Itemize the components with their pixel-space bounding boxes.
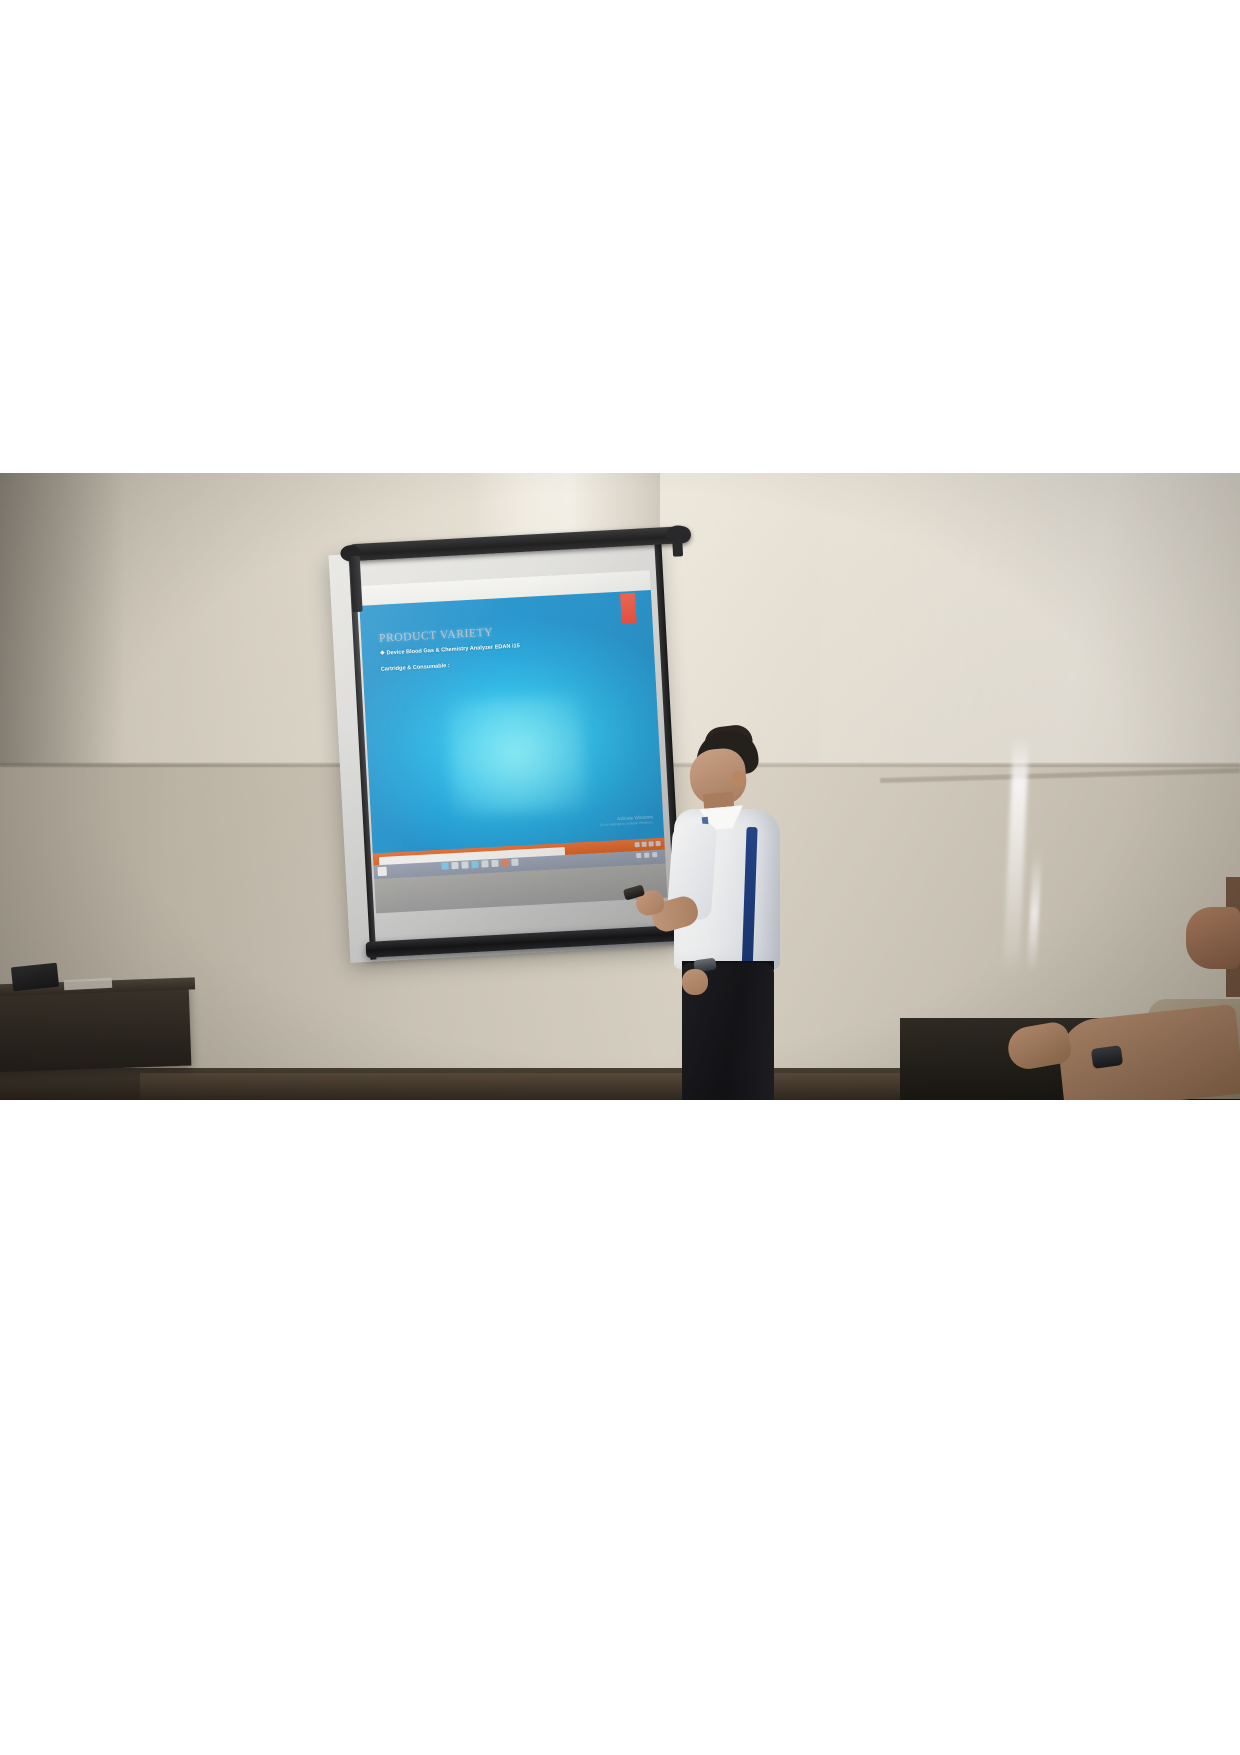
- status-icon-normal-view[interactable]: [635, 842, 640, 847]
- slide-bullet-text: Device Blood Gas & Chemistry Analyzer ED…: [386, 643, 520, 656]
- projected-display: PRODUCT VARIETY ❖ Device Blood Gas & Che…: [358, 570, 667, 913]
- taskbar-icon-folder[interactable]: [511, 859, 518, 866]
- taskbar-icon-store[interactable]: [461, 861, 468, 868]
- tray-icon-battery[interactable]: [652, 852, 657, 857]
- slide-bullet-line-1: ❖ Device Blood Gas & Chemistry Analyzer …: [380, 643, 520, 657]
- presenter-lower-hand: [682, 969, 708, 995]
- slide-light-glow: [446, 694, 586, 816]
- slide-title: PRODUCT VARIETY: [379, 627, 494, 645]
- status-icon-reading-view[interactable]: [648, 841, 653, 846]
- taskbar-icon-excel[interactable]: [491, 860, 498, 867]
- start-button-icon[interactable]: [377, 867, 386, 876]
- audience-person-head: [1186, 907, 1240, 969]
- powerpoint-slide: PRODUCT VARIETY ❖ Device Blood Gas & Che…: [359, 590, 664, 855]
- presenter-person: [660, 731, 800, 1100]
- status-icon-sorter-view[interactable]: [642, 842, 647, 847]
- tray-icon-volume[interactable]: [644, 853, 649, 858]
- tray-icon-network[interactable]: [636, 853, 641, 858]
- slide-accent-rectangle: [620, 593, 637, 624]
- taskbar-icon-edge[interactable]: [441, 862, 448, 869]
- bullet-marker-icon: ❖: [380, 651, 385, 657]
- taskbar-icon-explorer[interactable]: [451, 862, 458, 869]
- audience-wristwatch: [1091, 1045, 1123, 1069]
- screen-bracket-right: [672, 536, 683, 557]
- activate-windows-watermark: Activate Windows Go to Settings to activ…: [600, 814, 654, 827]
- slide-line-2: Cartridge & Consumable :: [381, 663, 450, 673]
- taskbar-icon-mail[interactable]: [471, 861, 478, 868]
- presenter-ear: [732, 771, 745, 787]
- photograph: PRODUCT VARIETY ❖ Device Blood Gas & Che…: [0, 473, 1240, 1100]
- taskbar-icon-powerpoint[interactable]: [501, 859, 508, 866]
- taskbar-icon-word[interactable]: [481, 860, 488, 867]
- laptop-on-table: [11, 963, 59, 992]
- page-root: PRODUCT VARIETY ❖ Device Blood Gas & Che…: [0, 0, 1240, 1755]
